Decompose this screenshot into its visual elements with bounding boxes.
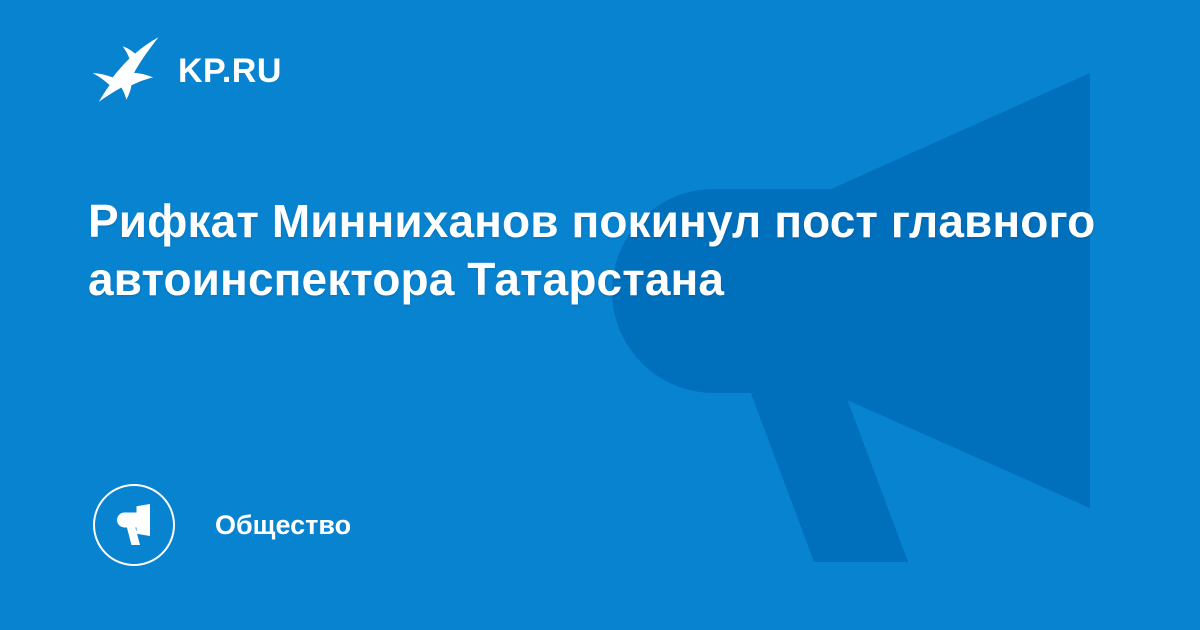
category-badge[interactable] [93,484,175,566]
brand-name-text: KP.RU [178,54,282,88]
headline-title: Рифкат Минниханов покинул пост главного … [88,192,1098,308]
category-row[interactable]: Общество [93,484,351,566]
brand-logo-row[interactable]: KP.RU [92,36,282,106]
article-share-card: KP.RU Рифкат Минниханов покинул пост гла… [0,0,1200,630]
category-label-text: Общество [215,512,351,539]
swallow-bird-icon [92,36,160,106]
megaphone-icon [111,503,157,547]
